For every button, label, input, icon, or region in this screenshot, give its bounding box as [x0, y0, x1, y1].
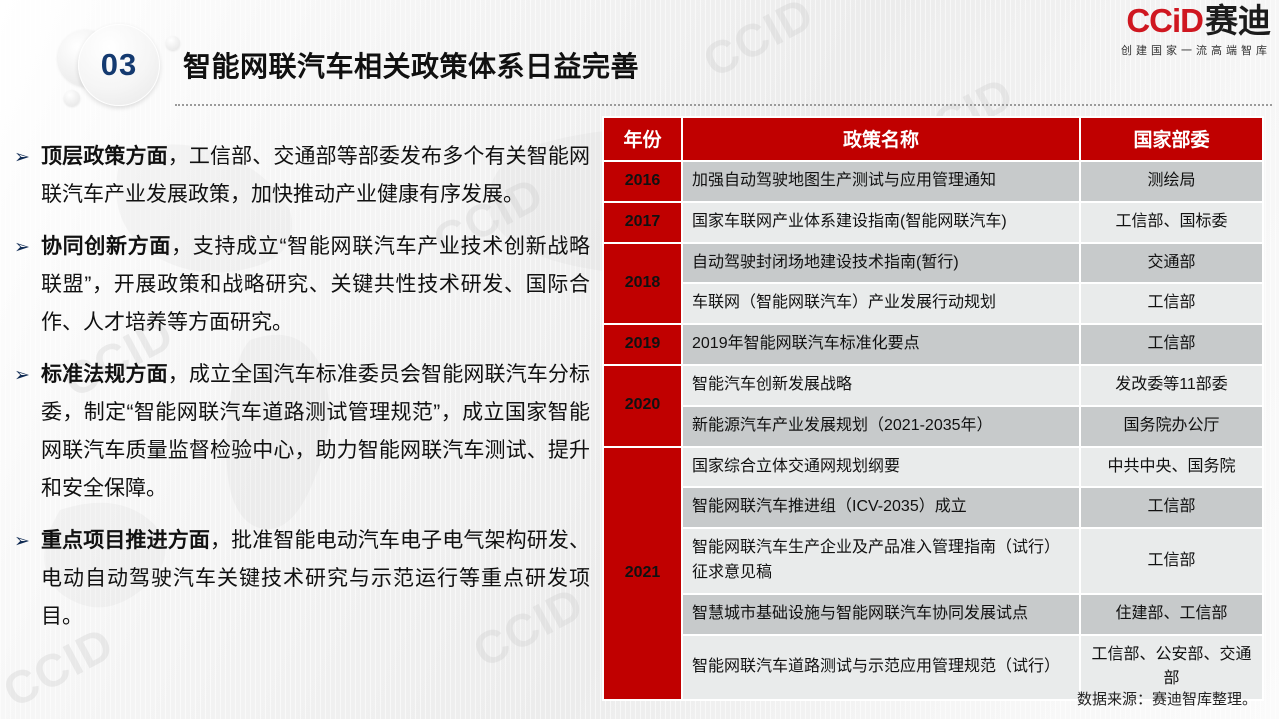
cell-year: 2018 — [603, 243, 682, 325]
policy-table: 年份 政策名称 国家部委 2016加强自动驾驶地图生产测试与应用管理通知测绘局2… — [602, 116, 1264, 701]
bullet-lead: 顶层政策方面 — [41, 145, 168, 168]
cell-policy-name: 国家车联网产业体系建设指南(智能网联汽车) — [682, 202, 1080, 243]
cell-department: 工信部 — [1080, 528, 1263, 594]
cell-department: 测绘局 — [1080, 161, 1263, 202]
cell-policy-name: 国家综合立体交通网规划纲要 — [682, 447, 1080, 488]
slide-header: 03 智能网联汽车相关政策体系日益完善 CCiD 赛迪 创建国家一流高端智库 — [0, 0, 1279, 112]
bullet-item: ➢ 标准法规方面，成立全国汽车标准委员会智能网联汽车分标委，制定“智能网联汽车道… — [14, 356, 590, 508]
source-note: 数据来源：赛迪智库整理。 — [1077, 688, 1257, 709]
cell-year: 2020 — [603, 365, 682, 447]
cell-policy-name: 车联网（智能网联汽车）产业发展行动规划 — [682, 283, 1080, 324]
table-header-row: 年份 政策名称 国家部委 — [603, 117, 1263, 161]
logo-tagline: 创建国家一流高端智库 — [1121, 42, 1271, 58]
table-row: 2016加强自动驾驶地图生产测试与应用管理通知测绘局 — [603, 161, 1263, 202]
cell-year: 2021 — [603, 447, 682, 701]
cell-department: 工信部 — [1080, 283, 1263, 324]
cell-department: 国务院办公厅 — [1080, 406, 1263, 447]
bullet-lead: 标准法规方面 — [41, 363, 168, 386]
cell-department: 交通部 — [1080, 243, 1263, 284]
badge-main-circle: 03 — [78, 24, 160, 106]
cell-year: 2016 — [603, 161, 682, 202]
bullet-item: ➢ 顶层政策方面，工信部、交通部等部委发布多个有关智能网联汽车产业发展政策，加快… — [14, 138, 590, 214]
badge-dot-bottom-left — [64, 90, 80, 106]
logo-latin-text: CCiD — [1126, 4, 1203, 37]
table-row: 新能源汽车产业发展规划（2021-2035年）国务院办公厅 — [603, 406, 1263, 447]
bullet-item: ➢ 重点项目推进方面，批准智能电动汽车电子电气架构研发、电动自动驾驶汽车关键技术… — [14, 522, 590, 636]
cell-policy-name: 2019年智能网联汽车标准化要点 — [682, 324, 1080, 365]
cell-policy-name: 智能汽车创新发展战略 — [682, 365, 1080, 406]
cell-policy-name: 自动驾驶封闭场地建设技术指南(暂行) — [682, 243, 1080, 284]
cell-policy-name: 新能源汽车产业发展规划（2021-2035年） — [682, 406, 1080, 447]
cell-policy-name: 智能网联汽车道路测试与示范应用管理规范（试行） — [682, 635, 1080, 701]
arrow-bullet-icon: ➢ — [14, 138, 41, 214]
bullet-list: ➢ 顶层政策方面，工信部、交通部等部委发布多个有关智能网联汽车产业发展政策，加快… — [14, 138, 590, 650]
page-title: 智能网联汽车相关政策体系日益完善 — [183, 45, 639, 85]
cell-policy-name: 加强自动驾驶地图生产测试与应用管理通知 — [682, 161, 1080, 202]
bullet-item: ➢ 协同创新方面，支持成立“智能网联汽车产业技术创新战略联盟”，开展政策和战略研… — [14, 228, 590, 342]
table-row: 2020智能汽车创新发展战略发改委等11部委 — [603, 365, 1263, 406]
cell-department: 中共中央、国务院 — [1080, 447, 1263, 488]
header-divider — [175, 104, 1272, 106]
bullet-lead: 协同创新方面 — [41, 235, 171, 258]
table-row: 智能网联汽车生产企业及产品准入管理指南（试行）征求意见稿工信部 — [603, 528, 1263, 594]
logo-chinese-text: 赛迪 — [1205, 4, 1271, 37]
table-row: 智慧城市基础设施与智能网联汽车协同发展试点住建部、工信部 — [603, 594, 1263, 635]
table-row: 2018自动驾驶封闭场地建设技术指南(暂行)交通部 — [603, 243, 1263, 284]
ccid-logo: CCiD 赛迪 创建国家一流高端智库 — [1121, 4, 1271, 58]
badge-dot-top-right — [166, 36, 180, 50]
table-row: 20192019年智能网联汽车标准化要点工信部 — [603, 324, 1263, 365]
cell-department: 工信部 — [1080, 324, 1263, 365]
cell-department: 住建部、工信部 — [1080, 594, 1263, 635]
cell-department: 工信部、国标委 — [1080, 202, 1263, 243]
table-row: 智能网联汽车推进组（ICV-2035）成立工信部 — [603, 487, 1263, 528]
cell-department: 发改委等11部委 — [1080, 365, 1263, 406]
cell-year: 2017 — [603, 202, 682, 243]
table-row: 车联网（智能网联汽车）产业发展行动规划工信部 — [603, 283, 1263, 324]
table-row: 2017国家车联网产业体系建设指南(智能网联汽车)工信部、国标委 — [603, 202, 1263, 243]
cell-policy-name: 智能网联汽车生产企业及产品准入管理指南（试行）征求意见稿 — [682, 528, 1080, 594]
cell-policy-name: 智慧城市基础设施与智能网联汽车协同发展试点 — [682, 594, 1080, 635]
table-row: 2021国家综合立体交通网规划纲要中共中央、国务院 — [603, 447, 1263, 488]
bullet-text: 顶层政策方面，工信部、交通部等部委发布多个有关智能网联汽车产业发展政策，加快推动… — [41, 138, 590, 214]
section-badge: 03 — [58, 24, 190, 106]
bullet-text: 标准法规方面，成立全国汽车标准委员会智能网联汽车分标委，制定“智能网联汽车道路测… — [41, 356, 590, 508]
cell-policy-name: 智能网联汽车推进组（ICV-2035）成立 — [682, 487, 1080, 528]
arrow-bullet-icon: ➢ — [14, 228, 41, 342]
column-header-year: 年份 — [603, 117, 682, 161]
bullet-text: 协同创新方面，支持成立“智能网联汽车产业技术创新战略联盟”，开展政策和战略研究、… — [41, 228, 590, 342]
arrow-bullet-icon: ➢ — [14, 522, 41, 636]
arrow-bullet-icon: ➢ — [14, 356, 41, 508]
cell-department: 工信部 — [1080, 487, 1263, 528]
column-header-policy: 政策名称 — [682, 117, 1080, 161]
cell-year: 2019 — [603, 324, 682, 365]
bullet-text: 重点项目推进方面，批准智能电动汽车电子电气架构研发、电动自动驾驶汽车关键技术研究… — [41, 522, 590, 636]
bullet-lead: 重点项目推进方面 — [41, 529, 210, 552]
table-body: 2016加强自动驾驶地图生产测试与应用管理通知测绘局2017国家车联网产业体系建… — [603, 161, 1263, 700]
column-header-dept: 国家部委 — [1080, 117, 1263, 161]
section-number: 03 — [101, 47, 137, 83]
